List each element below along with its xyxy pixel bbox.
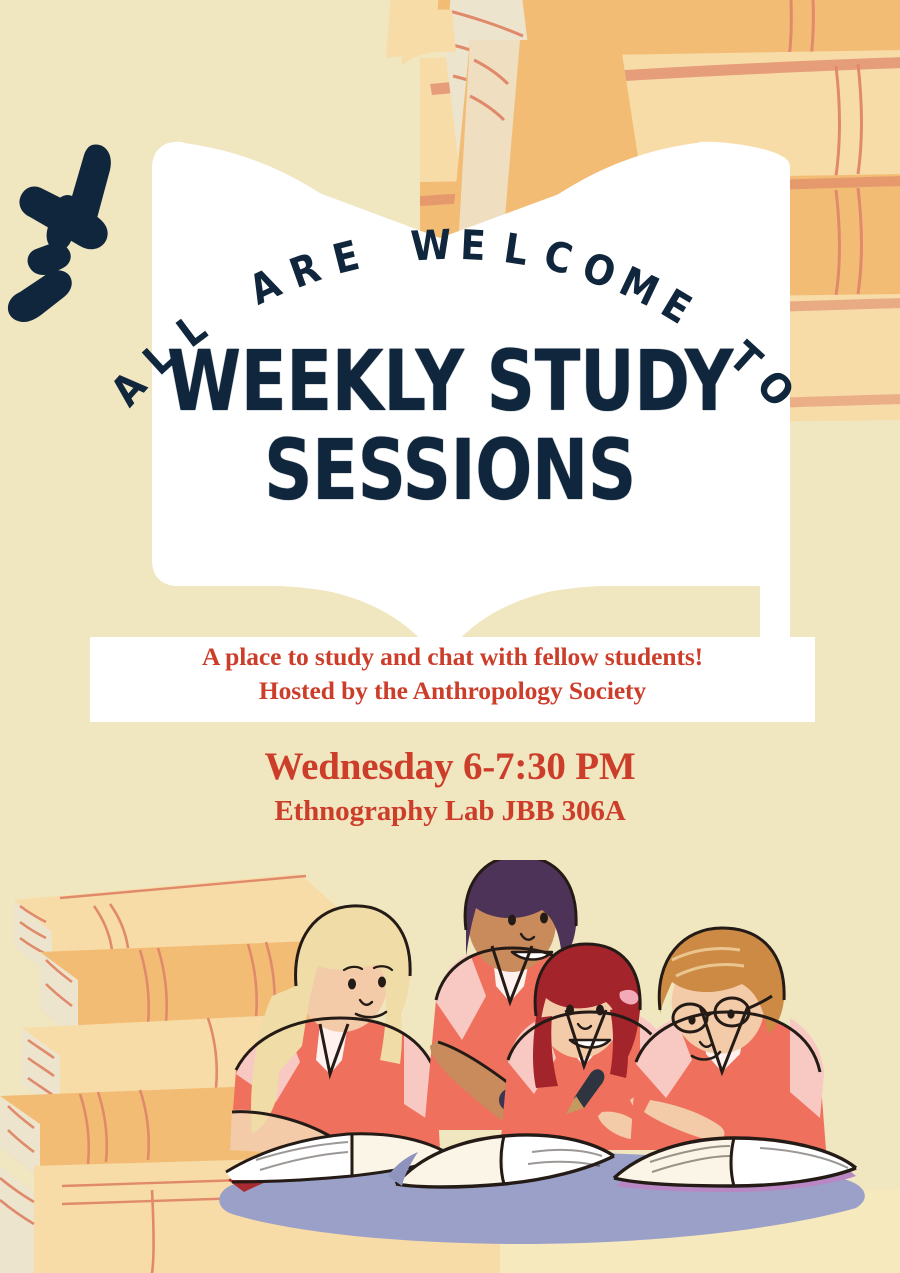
students-studying-illustration xyxy=(0,0,900,1273)
poster-canvas: ALL ARE WELCOME TO WEEKLY STUDY SESSIONS… xyxy=(0,0,900,1273)
